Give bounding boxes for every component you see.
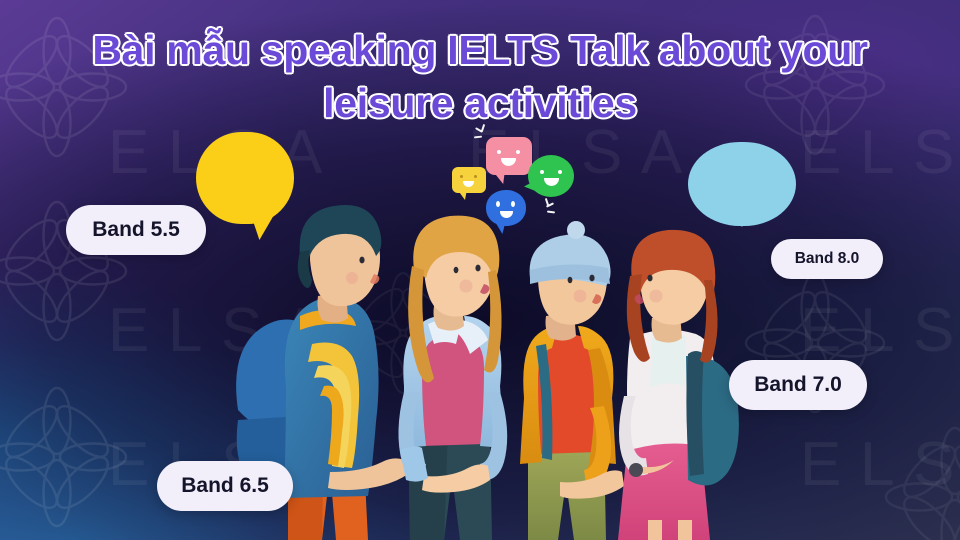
page-title: Bài mẫu speaking IELTS Talk about your l… [0,24,960,131]
emoji-face [486,190,526,226]
band-badge-8-0[interactable]: Band 8.0 [771,239,883,279]
emoji-blue-bubble [486,190,526,226]
band-badge-6-5[interactable]: Band 6.5 [157,461,293,511]
band-badge-7-0[interactable]: Band 7.0 [729,360,867,410]
emoji-face [452,167,486,193]
bubble-yellow-large [196,132,294,224]
page-title-line-2: leisure activities [323,80,637,126]
slide-canvas: ELSA ELSA ELSA ELSA ELSA ELSA ELSA [0,0,960,540]
person-3 [520,221,624,540]
spark-accent-icon [534,198,556,218]
person-2 [398,216,507,540]
emoji-yellow-bubble [452,167,486,193]
page-title-line-1: Bài mẫu speaking IELTS Talk about your [92,27,867,73]
bubble-blue-large [688,142,796,226]
emoji-green-bubble [528,155,574,197]
emoji-face [528,155,574,197]
person-4 [618,230,739,540]
band-badge-5-5[interactable]: Band 5.5 [66,205,206,255]
